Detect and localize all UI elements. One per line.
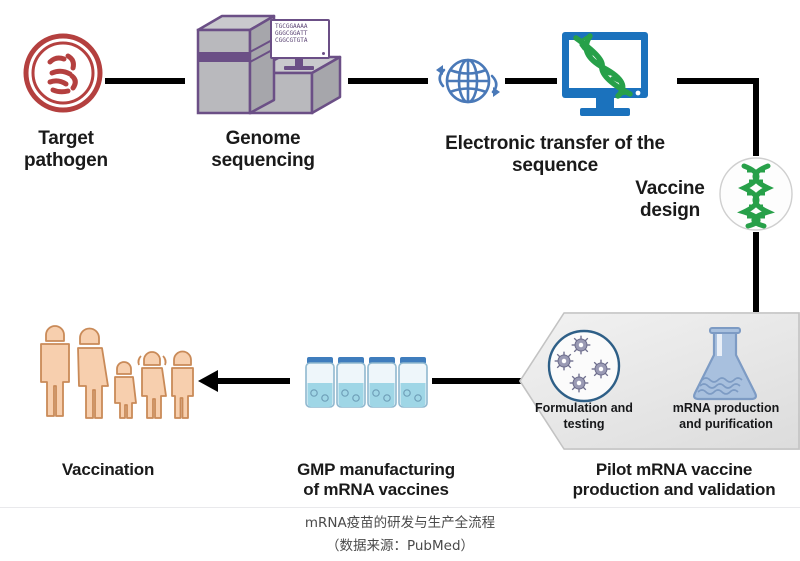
connector-corner-down-to-dna <box>753 78 759 156</box>
label-vaccine-design: Vaccine design <box>620 178 720 222</box>
flow-diagram-canvas: Target pathogen TGCGGAAAA GGGCGGATT CGGC… <box>0 0 800 561</box>
connector-pathogen-to-sequencer <box>105 78 185 84</box>
connector-pentagon-to-vials <box>432 378 524 384</box>
connector-vials-to-people-shaft <box>218 378 290 384</box>
label-genome-sequencing: Genome sequencing <box>193 128 333 172</box>
connector-monitor-to-corner <box>677 78 759 84</box>
figure-caption: mRNA疫苗的研发与生产全流程 （数据来源：PubMed） <box>0 512 800 558</box>
genome-sequencer-icon: TGCGGAAAA GGGCGGATT CGGCGTGTA <box>188 10 348 125</box>
family-people-icon <box>28 322 198 432</box>
connector-dna-down-to-pentagon <box>753 232 759 314</box>
label-gmp-manufacturing: GMP manufacturing of mRNA vaccines <box>255 460 497 499</box>
globe-transfer-icon <box>430 52 506 110</box>
caption-title: mRNA疫苗的研发与生产全流程 <box>0 512 800 535</box>
label-electronic-transfer: Electronic transfer of the sequence <box>425 133 685 177</box>
caption-source: （数据来源：PubMed） <box>0 535 800 558</box>
caption-divider <box>0 507 800 508</box>
vaccine-vials-icon <box>304 357 434 409</box>
arrow-head-to-vaccination <box>198 370 218 392</box>
label-formulation-testing: Formulation and testing <box>528 401 640 432</box>
sequencer-screen-text: TGCGGAAAA GGGCGGATT CGGCGTGTA <box>275 23 308 44</box>
label-mrna-production: mRNA production and purification <box>662 401 790 432</box>
target-pathogen-icon <box>22 32 104 114</box>
petri-dish-icon <box>545 327 623 405</box>
connector-sequencer-to-globe <box>348 78 428 84</box>
flask-icon <box>686 325 764 405</box>
label-target-pathogen: Target pathogen <box>0 128 132 172</box>
sequencer-monitor-screen: TGCGGAAAA GGGCGGATT CGGCGTGTA <box>270 19 330 59</box>
connector-globe-to-monitor <box>505 78 557 84</box>
label-vaccination: Vaccination <box>33 460 183 480</box>
label-pilot-production: Pilot mRNA vaccine production and valida… <box>548 460 800 499</box>
sequencer-screen-led <box>322 52 325 55</box>
dna-helix-icon <box>718 156 794 232</box>
monitor-dna-icon <box>556 28 656 120</box>
